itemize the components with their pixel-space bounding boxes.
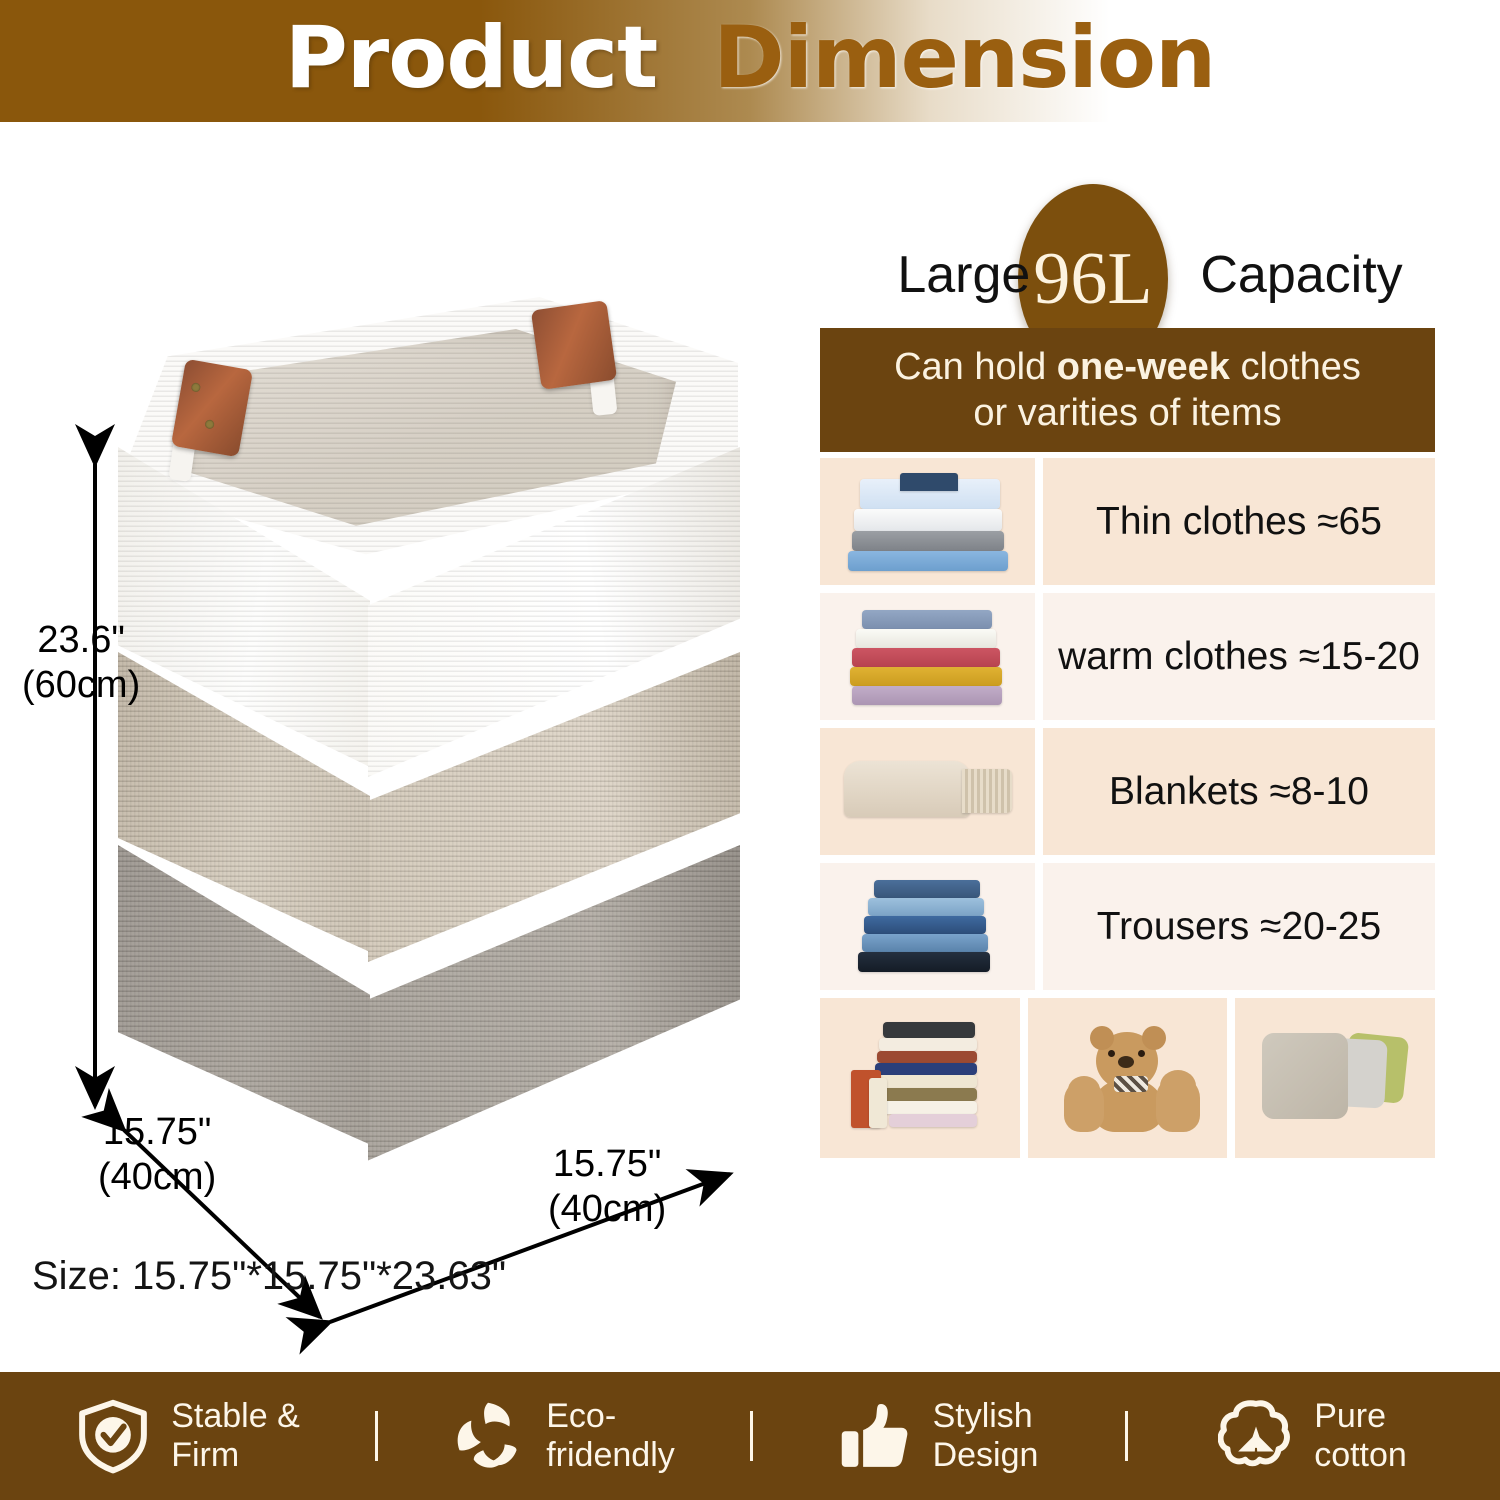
teddy-bears-image [1028, 998, 1228, 1158]
books-graphic [845, 1018, 995, 1138]
folded-shirts-image [838, 469, 1018, 575]
leather-handle-right [531, 300, 617, 390]
capacity-item-row: Thin clothes ≈65 [820, 458, 1435, 585]
capacity-heading-prefix: Large [897, 245, 1030, 305]
capacity-item-text-cell: Thin clothes ≈65 [1043, 458, 1435, 585]
pillows-graphic [1250, 1023, 1420, 1133]
capacity-text-bold: one-week [1057, 346, 1230, 388]
height-dimension-label: 23.6" (60cm) [22, 618, 140, 708]
capacity-item-label: Trousers ≈20-25 [1097, 905, 1381, 949]
capacity-description-box: Can hold one-week clothes or varities of… [820, 328, 1435, 452]
feature-label: Pure cotton [1314, 1397, 1407, 1476]
capacity-item-label: Blankets ≈8-10 [1109, 770, 1369, 814]
thumbs-up-icon [837, 1398, 913, 1474]
cotton-boll-icon [1218, 1398, 1294, 1474]
capacity-item-row: warm clothes ≈15-20 [820, 593, 1435, 720]
feature-pure-cotton: Pure cotton [1125, 1397, 1500, 1476]
capacity-item-text-cell: warm clothes ≈15-20 [1043, 593, 1435, 720]
width-arrow [330, 1174, 730, 1322]
capacity-item-label: Thin clothes ≈65 [1096, 500, 1382, 544]
rivet [204, 419, 214, 429]
feature-stable-firm: Stable & Firm [0, 1397, 375, 1476]
shield-check-icon [75, 1398, 151, 1474]
feature-eco-friendly: Eco- fridendly [375, 1397, 750, 1476]
feature-bar: Stable & Firm Eco- fridendly Stylish Des… [0, 1372, 1500, 1500]
capacity-item-row: Trousers ≈20-25 [820, 863, 1435, 990]
header-word-dimension: Dimension [713, 15, 1215, 101]
throw-pillows-image [1235, 998, 1435, 1158]
storage-basket-illustration [118, 297, 738, 1177]
feature-stylish-design: Stylish Design [750, 1397, 1125, 1476]
capacity-item-image-cell [820, 863, 1035, 990]
capacity-text-c: clothes [1230, 346, 1361, 388]
capacity-gallery-row [820, 998, 1435, 1158]
feature-label: Eco- fridendly [546, 1397, 675, 1476]
capacity-panel: Large Capacity 96L Can hold one-week clo… [800, 122, 1500, 1372]
folded-blanket-image [838, 739, 1018, 845]
teddy-graphic [1048, 1018, 1208, 1138]
width-dimension-label: 15.75" (40cm) [548, 1142, 666, 1232]
depth-dimension-label: 15.75" (40cm) [98, 1110, 216, 1200]
capacity-item-row: Blankets ≈8-10 [820, 728, 1435, 855]
capacity-item-image-cell [820, 593, 1035, 720]
folded-sweaters-image [838, 604, 1018, 710]
capacity-item-image-cell [820, 458, 1035, 585]
capacity-text-a: Can hold [894, 346, 1057, 388]
rivet [191, 382, 201, 392]
capacity-heading-suffix: Capacity [1200, 245, 1402, 305]
size-summary-text: Size: 15.75"*15.75"*23.63" [32, 1254, 506, 1299]
capacity-item-label: warm clothes ≈15-20 [1058, 635, 1420, 679]
capacity-item-image-cell [820, 728, 1035, 855]
folded-jeans-image [838, 874, 1018, 980]
capacity-description-line-1: Can hold one-week clothes [894, 344, 1361, 390]
page-header-banner: Product Dimension [0, 0, 1500, 122]
product-dimension-panel: 23.6" (60cm) 15.75" (40cm) 15.75" (40cm)… [0, 122, 790, 1372]
capacity-item-text-cell: Trousers ≈20-25 [1043, 863, 1435, 990]
capacity-badge-value: 96L [1033, 242, 1152, 316]
stack-of-books-image [820, 998, 1020, 1158]
header-word-product: Product [285, 15, 657, 101]
capacity-item-text-cell: Blankets ≈8-10 [1043, 728, 1435, 855]
feature-label: Stable & Firm [171, 1397, 300, 1476]
feature-label: Stylish Design [933, 1397, 1039, 1476]
header-title-row: Product Dimension [0, 0, 1500, 122]
capacity-item-list: Thin clothes ≈65 warm clothes ≈15-20 [820, 458, 1435, 1158]
capacity-description-line-2: or varities of items [973, 390, 1281, 436]
recycle-leaves-icon [450, 1398, 526, 1474]
